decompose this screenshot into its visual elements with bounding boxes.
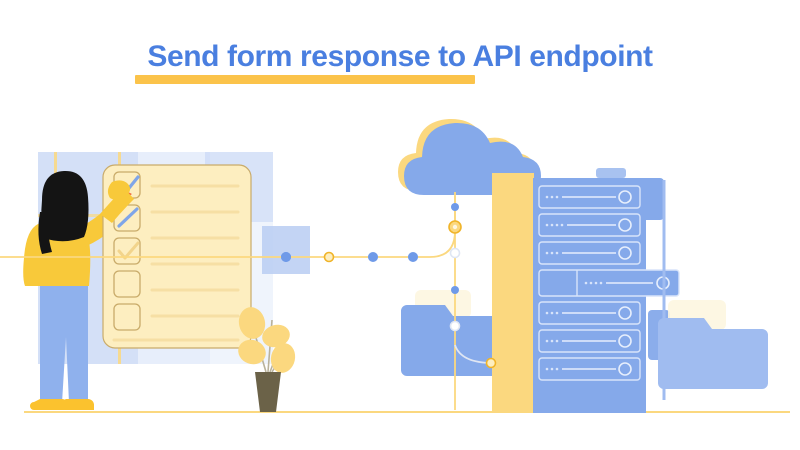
connector-node-2[interactable] [325, 253, 334, 262]
connector-node-9[interactable] [451, 322, 460, 331]
folder-right[interactable] [658, 300, 768, 389]
panel-small-square [262, 226, 310, 274]
rack-backing-panel [492, 173, 534, 413]
person-hair [41, 171, 88, 241]
plant-pot [255, 372, 281, 412]
rack-slot-5-dots [546, 312, 559, 315]
rack-slot-4-drawer[interactable] [539, 270, 679, 296]
rack-slot-6-dots [546, 340, 559, 343]
connector-node-square[interactable] [281, 252, 291, 262]
rack-slot-3-dots [546, 252, 559, 255]
connector-node-3[interactable] [368, 252, 378, 262]
rack-slot-1-dots [546, 196, 559, 199]
rack-top-tab [596, 168, 626, 178]
connector-node-5-core [453, 225, 457, 229]
connector-node-7[interactable] [451, 249, 460, 258]
server-rack[interactable] [492, 168, 679, 413]
connector-node-8[interactable] [451, 286, 459, 294]
connector-node-6[interactable] [451, 203, 459, 211]
connector-node-10[interactable] [487, 359, 496, 368]
illustration-canvas: Send form response to API endpoint [0, 0, 800, 450]
scene-illustration [0, 0, 800, 450]
person-pants [40, 283, 88, 403]
connector-node-4[interactable] [408, 252, 418, 262]
rack-slot-7-dots [546, 368, 559, 371]
